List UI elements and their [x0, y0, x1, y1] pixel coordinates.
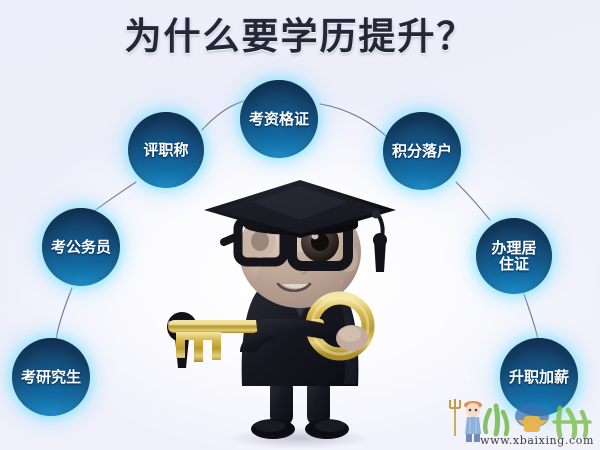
bubble-label: 考研究生 [21, 369, 81, 385]
arc-jifen-juzhu [456, 182, 490, 220]
arc-zige-jifen [320, 104, 386, 136]
watermark-url: www.xbaixing.com [480, 434, 594, 447]
bubble-kao-gong-wu-yuan[interactable]: 考公务员 [42, 208, 120, 286]
bubble-ji-fen-luo-hu[interactable]: 积分落户 [383, 112, 461, 190]
poster-canvas: 为什么要学历提升？ 考资格证 评职称 积分落户 考公务员 办理居 住证 考研究生… [0, 0, 600, 450]
page-title: 为什么要学历提升？ [0, 6, 600, 60]
bubble-label: 考公务员 [51, 239, 111, 255]
bubble-label: 考资格证 [249, 111, 309, 127]
bubble-label-multiline: 办理居 住证 [491, 240, 536, 272]
bubble-kao-zi-ge-zheng[interactable]: 考资格证 [240, 80, 318, 158]
arc-gongwu-yanjiu [56, 288, 72, 340]
arc-juzhu-shengzhi [524, 294, 538, 340]
bubble-ban-li-ju-zhu-zheng[interactable]: 办理居 住证 [476, 218, 552, 294]
bubble-label-line2: 住证 [491, 256, 536, 272]
ground-shadow [228, 427, 372, 449]
bubble-label: 积分落户 [392, 143, 452, 159]
bubble-ping-zhi-cheng[interactable]: 评职称 [128, 112, 204, 188]
bubble-label: 升职加薪 [509, 369, 569, 385]
graduate-character [160, 180, 440, 450]
bubble-kao-yan-jiu-sheng[interactable]: 考研究生 [12, 338, 90, 416]
bubble-label-line1: 办理居 [491, 240, 536, 256]
farmer-with-pitchfork-icon [450, 399, 482, 442]
brand-glyphs [485, 404, 590, 436]
bubble-label: 评职称 [143, 142, 188, 158]
